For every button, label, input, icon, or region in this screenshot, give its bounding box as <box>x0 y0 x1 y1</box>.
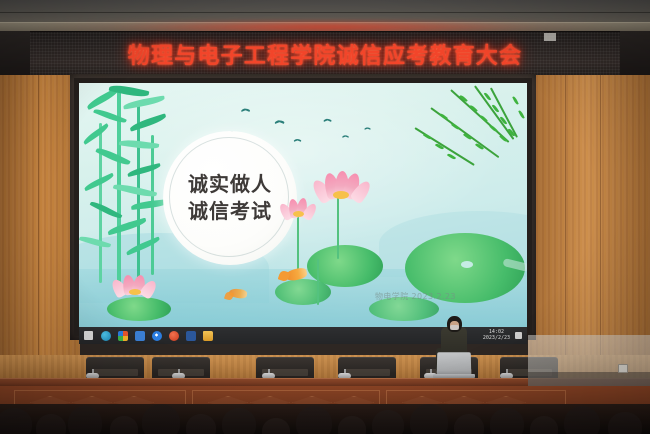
audience-head <box>410 404 448 434</box>
lotus-stem <box>337 189 339 259</box>
lotus-center <box>129 289 141 295</box>
store-icon[interactable] <box>135 331 145 341</box>
audience-head <box>338 416 366 434</box>
start-button-icon[interactable] <box>84 331 93 340</box>
left-wall-shading <box>0 75 80 360</box>
wall-sign <box>544 33 556 41</box>
taskbar-system-tray: 14:02 2023/2/23 <box>483 330 522 342</box>
slide-slogan: 诚实做人 诚信考试 <box>163 131 297 265</box>
lily-pad <box>275 279 331 305</box>
taskbar-clock[interactable]: 14:02 2023/2/23 <box>483 330 510 342</box>
led-banner-left-cap <box>0 31 30 75</box>
word-icon[interactable] <box>186 331 196 341</box>
audience-head <box>186 414 216 434</box>
presentation-slide: 诚实做人 诚信考试 <box>79 83 527 327</box>
audience-head <box>454 414 484 434</box>
wall-seam <box>38 75 39 360</box>
right-wall-shading <box>528 75 650 360</box>
bird-silhouette <box>323 119 331 124</box>
lotus-center <box>333 191 349 199</box>
lotus-center <box>293 211 304 217</box>
led-banner-right-cap <box>620 31 650 75</box>
audience-row <box>0 404 650 434</box>
presenter-face-mask <box>450 325 459 330</box>
audience-head <box>222 408 256 434</box>
folder-icon[interactable] <box>203 331 213 341</box>
audience-head <box>142 404 180 434</box>
audience-head <box>36 414 66 434</box>
notification-center-icon[interactable] <box>515 332 522 339</box>
ceiling-seam <box>0 12 650 13</box>
audience-head <box>372 410 404 434</box>
audience-head <box>262 418 290 434</box>
wall-seam <box>600 75 601 360</box>
presenter-laptop-base <box>433 374 475 378</box>
audience-head <box>110 416 138 434</box>
led-banner-text: 物理与电子工程学院诚信应考教育大会 <box>0 38 650 70</box>
media-player-icon[interactable] <box>118 331 128 341</box>
light-switch <box>618 364 628 373</box>
edge-browser-icon[interactable] <box>101 331 111 341</box>
conference-hall-photo: 物理与电子工程学院诚信应考教育大会 <box>0 0 650 434</box>
powerpoint-icon[interactable] <box>169 331 179 341</box>
audience-head <box>0 408 32 434</box>
bird-silhouette <box>364 128 370 132</box>
audience-head <box>608 412 642 434</box>
lotus-stem <box>317 259 319 305</box>
slide-slogan-line1: 诚实做人 <box>188 173 272 196</box>
taskbar-clock-date: 2023/2/23 <box>483 336 510 342</box>
water-droplet <box>461 261 473 268</box>
chrome-icon[interactable] <box>152 331 162 341</box>
bird-silhouette <box>241 109 250 114</box>
presenter-laptop <box>437 352 472 375</box>
bird-silhouette <box>275 121 285 127</box>
audience-head <box>490 408 524 434</box>
audience-head <box>530 416 558 434</box>
audience-head <box>564 406 600 434</box>
audience-head <box>296 406 332 434</box>
audience-head <box>68 406 102 434</box>
bird-silhouette <box>342 136 349 140</box>
taskbar-icon-group <box>101 331 213 341</box>
lily-pad <box>107 297 171 321</box>
slide-watermark: 物电学院 2023.2.23 <box>375 291 456 302</box>
wall-seam <box>565 75 566 360</box>
slide-slogan-line2: 诚信考试 <box>188 200 272 223</box>
